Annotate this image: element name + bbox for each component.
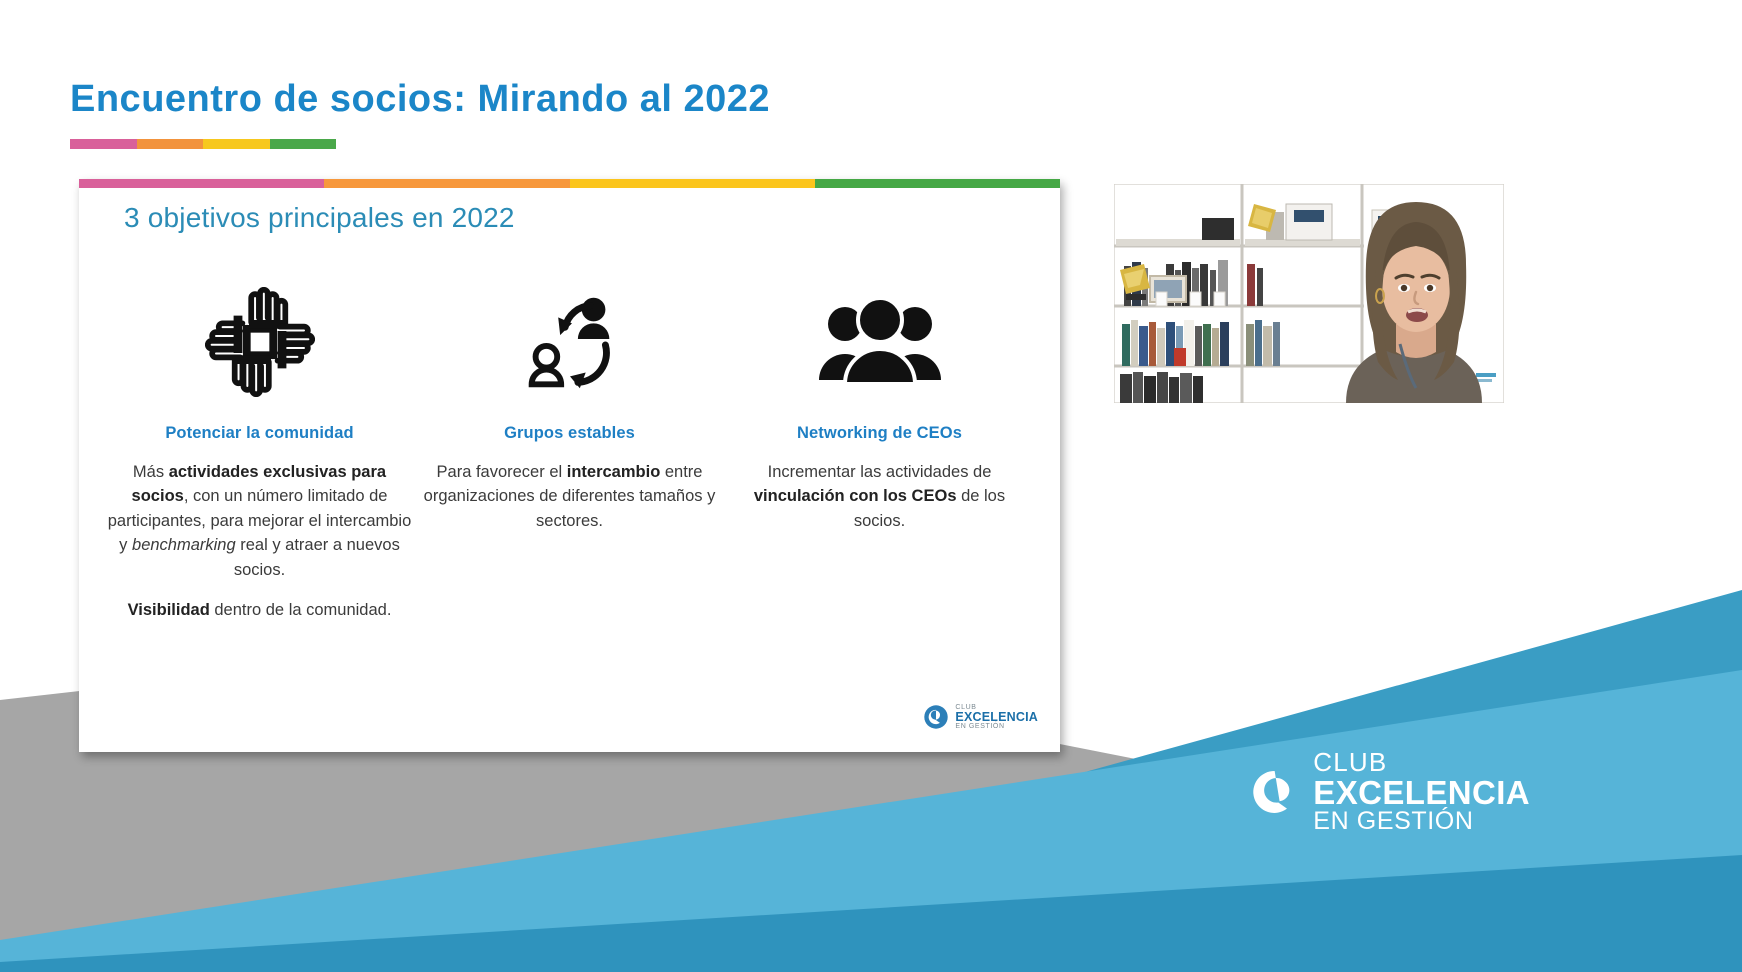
title-accent-bar	[70, 139, 336, 149]
slide-accent-pink	[79, 179, 324, 188]
slide-accent-green	[815, 179, 1060, 188]
speaker-video-feed[interactable]	[1114, 184, 1504, 403]
accent-segment-green	[270, 139, 337, 149]
brand-logo-mark	[1250, 753, 1299, 831]
slide-logo-mark	[923, 704, 949, 730]
objective-body-2: Para favorecer el intercambio entre orga…	[417, 460, 722, 549]
presentation-slide[interactable]: 3 objetivos principales en 2022	[79, 179, 1060, 752]
objective-heading-3: Networking de CEOs	[797, 424, 962, 443]
slide-logo-gestion: EN GESTIÓN	[955, 723, 1038, 730]
slide-logo-excelencia: EXCELENCIA	[955, 711, 1038, 724]
objective-heading-2: Grupos estables	[504, 424, 635, 443]
accent-segment-pink	[70, 139, 137, 149]
objective-column-2: Grupos estables Para favorecer el interc…	[417, 284, 722, 638]
webcam-frame	[1114, 184, 1504, 403]
slide-accent-orange	[324, 179, 569, 188]
objective-body-1: Más actividades exclusivas para socios, …	[107, 460, 412, 638]
slide-logo: CLUB EXCELENCIA EN GESTIÓN	[923, 704, 1038, 731]
accent-segment-yellow	[203, 139, 270, 149]
brand-line-excelencia: EXCELENCIA	[1313, 776, 1530, 810]
teamwork-hands-icon	[205, 284, 315, 399]
slide-title: 3 objetivos principales en 2022	[124, 202, 515, 234]
accent-segment-orange	[137, 139, 204, 149]
objectives-columns: Potenciar la comunidad Más actividades e…	[79, 284, 1060, 638]
brand-logo: CLUB EXCELENCIA EN GESTIÓN	[1250, 742, 1530, 842]
objective-heading-1: Potenciar la comunidad	[165, 424, 353, 443]
objective-column-1: Potenciar la comunidad Más actividades e…	[107, 284, 412, 638]
slide-accent-bar	[79, 179, 1060, 188]
exchange-people-cycle-icon	[511, 284, 629, 399]
brand-line-club: CLUB	[1313, 749, 1530, 776]
brand-line-gestion: EN GESTIÓN	[1313, 809, 1530, 835]
group-of-people-icon	[815, 284, 945, 399]
page-title: Encuentro de socios: Mirando al 2022	[70, 78, 770, 121]
objective-body-3: Incrementar las actividades de vinculaci…	[727, 460, 1032, 549]
slide-accent-yellow	[570, 179, 815, 188]
objective-column-3: Networking de CEOs Incrementar las activ…	[727, 284, 1032, 638]
